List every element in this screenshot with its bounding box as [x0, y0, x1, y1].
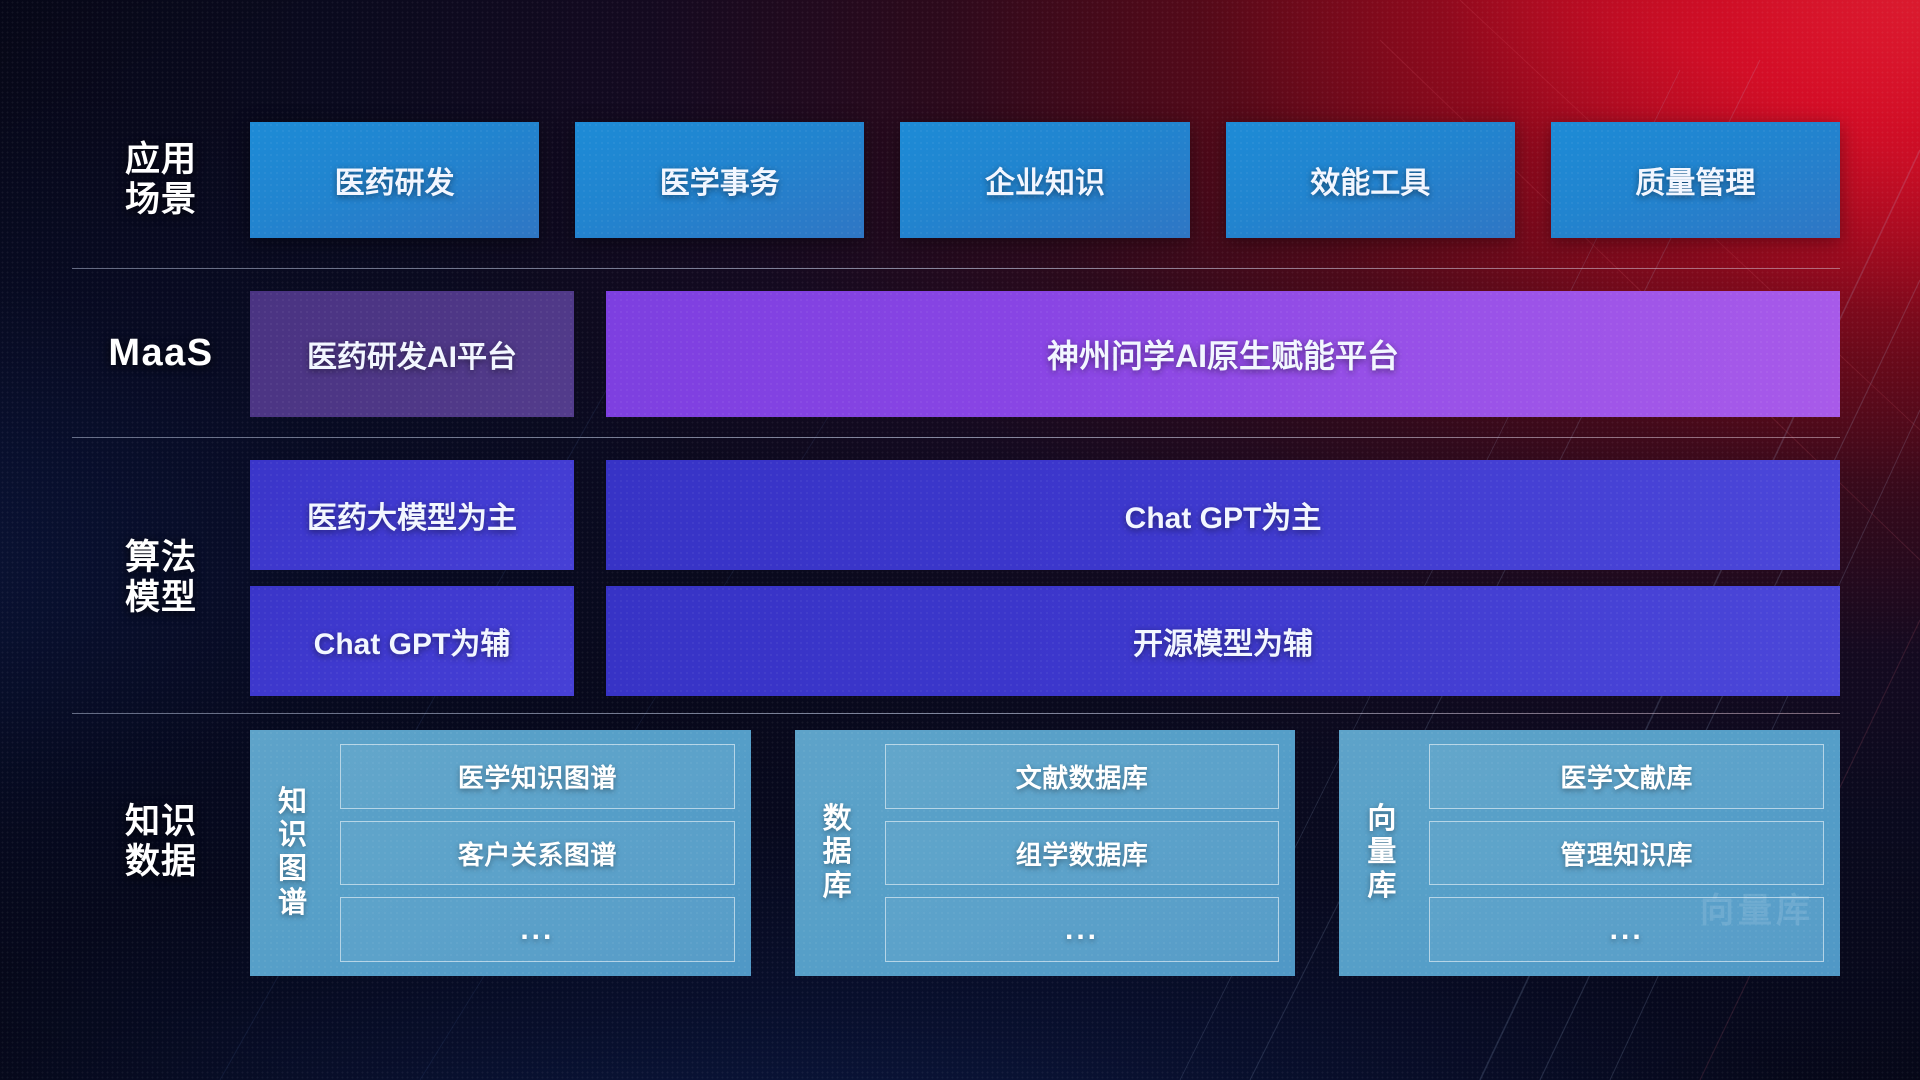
algo-tile-pharma-llm-primary[interactable]: 医药大模型为主: [250, 460, 574, 570]
diagram-content: 应用 场景 医药研发 医学事务 企业知识 效能工具 质量管理 MaaS 医药研发…: [0, 0, 1920, 1080]
row-application-scenarios: 应用 场景 医药研发 医学事务 企业知识 效能工具 质量管理: [72, 122, 1840, 238]
knowledge-items-knowledge-graph: 医学知识图谱 客户关系图谱 ...: [322, 744, 735, 962]
knowledge-item-literature-database[interactable]: 文献数据库: [885, 744, 1280, 809]
maas-tile-shenzhou-wenxue-platform[interactable]: 神州问学AI原生赋能平台: [606, 291, 1840, 417]
knowledge-item-more-knowledge-graph[interactable]: ...: [340, 897, 735, 962]
knowledge-item-customer-relation-graph[interactable]: 客户关系图谱: [340, 821, 735, 886]
algo-tile-opensource-secondary[interactable]: 开源模型为辅: [606, 586, 1840, 696]
knowledge-item-medical-literature-store[interactable]: 医学文献库: [1429, 744, 1824, 809]
app-tile-quality-management[interactable]: 质量管理: [1551, 122, 1840, 238]
divider-maas-algorithm: [72, 437, 1840, 438]
divider-apps-maas: [72, 268, 1840, 269]
app-tile-enterprise-knowledge[interactable]: 企业知识: [900, 122, 1189, 238]
maas-tiles: 医药研发AI平台 神州问学AI原生赋能平台: [250, 291, 1840, 417]
knowledge-item-more-vector-store[interactable]: ...: [1429, 897, 1824, 962]
knowledge-item-management-knowledge-store[interactable]: 管理知识库: [1429, 821, 1824, 886]
knowledge-group-knowledge-graph[interactable]: 知 识 图 谱 医学知识图谱 客户关系图谱 ...: [250, 730, 751, 976]
row-label-maas: MaaS: [72, 332, 250, 375]
knowledge-group-database[interactable]: 数 据 库 文献数据库 组学数据库 ...: [795, 730, 1296, 976]
application-tiles: 医药研发 医学事务 企业知识 效能工具 质量管理: [250, 122, 1840, 238]
knowledge-groups: 知 识 图 谱 医学知识图谱 客户关系图谱 ... 数 据 库 文献数据库 组学…: [250, 730, 1840, 976]
knowledge-items-vector-store: 医学文献库 管理知识库 ...: [1411, 744, 1824, 962]
row-algorithm-models: 算法 模型 医药大模型为主 Chat GPT为主 Chat GPT为辅 开源模型…: [72, 460, 1840, 696]
algo-tile-chatgpt-primary[interactable]: Chat GPT为主: [606, 460, 1840, 570]
knowledge-items-database: 文献数据库 组学数据库 ...: [867, 744, 1280, 962]
divider-algorithm-knowledge: [72, 713, 1840, 714]
app-tile-medical-affairs[interactable]: 医学事务: [575, 122, 864, 238]
maas-tile-drug-rd-ai-platform[interactable]: 医药研发AI平台: [250, 291, 574, 417]
row-label-application-scenarios: 应用 场景: [72, 140, 250, 220]
row-knowledge-data: 知识 数据 知 识 图 谱 医学知识图谱 客户关系图谱 ... 数 据 库 文献…: [72, 730, 1840, 976]
app-tile-drug-rd[interactable]: 医药研发: [250, 122, 539, 238]
row-maas: MaaS 医药研发AI平台 神州问学AI原生赋能平台: [72, 291, 1840, 417]
algo-tile-chatgpt-secondary[interactable]: Chat GPT为辅: [250, 586, 574, 696]
row-label-knowledge-data: 知识 数据: [72, 730, 250, 882]
knowledge-group-title-database: 数 据 库: [809, 744, 867, 962]
algorithm-tiles: 医药大模型为主 Chat GPT为主 Chat GPT为辅 开源模型为辅: [250, 460, 1840, 696]
knowledge-item-omics-database[interactable]: 组学数据库: [885, 821, 1280, 886]
slide-canvas: 应用 场景 医药研发 医学事务 企业知识 效能工具 质量管理 MaaS 医药研发…: [0, 0, 1920, 1080]
knowledge-group-title-vector-store: 向 量 库: [1353, 744, 1411, 962]
knowledge-item-more-database[interactable]: ...: [885, 897, 1280, 962]
row-label-algorithm-models: 算法 模型: [72, 538, 250, 618]
knowledge-group-vector-store[interactable]: 向 量 库 医学文献库 管理知识库 ... 向量库: [1339, 730, 1840, 976]
algorithm-primary-line: 医药大模型为主 Chat GPT为主: [250, 460, 1840, 570]
knowledge-item-medical-knowledge-graph[interactable]: 医学知识图谱: [340, 744, 735, 809]
knowledge-group-title-knowledge-graph: 知 识 图 谱: [264, 744, 322, 962]
app-tile-efficiency-tools[interactable]: 效能工具: [1226, 122, 1515, 238]
algorithm-secondary-line: Chat GPT为辅 开源模型为辅: [250, 586, 1840, 696]
